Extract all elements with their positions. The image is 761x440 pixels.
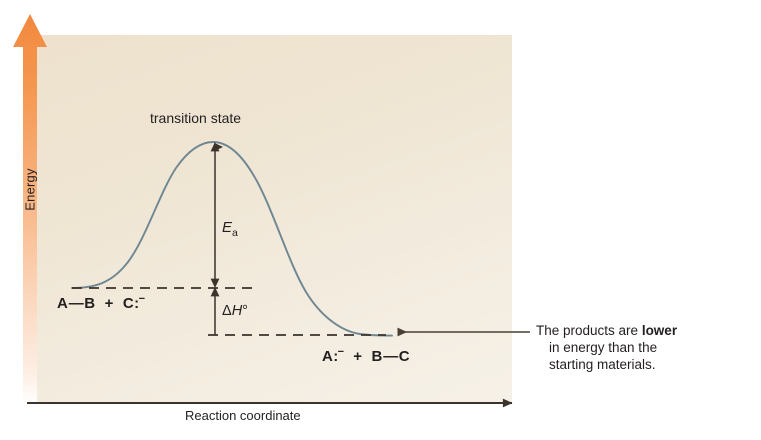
product-species-c: C [399,348,410,365]
reactant-plus-sign: + [105,295,114,312]
reactant-species-a: A [57,295,68,312]
reactant-bond-ab: — [68,295,84,312]
product-species-b: B [372,348,383,365]
product-plus-sign: + [353,348,362,365]
delta-symbol: Δ [222,303,232,319]
activation-energy-subscript: a [232,227,238,239]
reactant-negative-charge: − [139,293,145,305]
reactant-species-c: C: [123,295,140,312]
callout-line1-prefix: The products are [536,323,642,338]
diagram-line-art [0,0,761,440]
callout-line2: in energy than the [536,339,751,356]
reactants-label: A—B + C:− [57,293,145,312]
activation-energy-symbol: E [222,219,232,236]
activation-energy-label: Ea [222,219,238,239]
products-lower-callout: The products are lower in energy than th… [536,322,751,373]
callout-line1-emphasis: lower [642,323,677,338]
callout-line3: starting materials. [536,356,751,373]
transition-state-label: transition state [150,110,241,126]
enthalpy-change-label: ΔH° [222,303,248,319]
product-negative-charge: − [338,346,344,358]
energy-diagram-figure: Energy [0,0,761,440]
products-label: A:− + B—C [322,346,410,365]
product-species-a: A: [322,348,339,365]
degree-symbol: ° [242,303,248,319]
product-bond-bc: — [383,348,399,365]
activation-energy-arrowhead-bottom [211,279,220,288]
enthalpy-h-symbol: H [232,303,242,319]
x-axis-label: Reaction coordinate [185,408,301,423]
reactant-species-b: B [84,295,95,312]
